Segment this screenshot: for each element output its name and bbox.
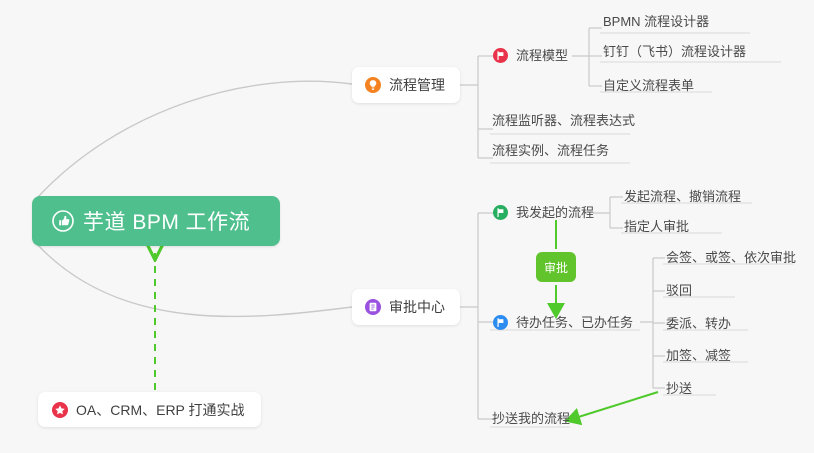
leaf-reject[interactable]: 驳回 [666, 284, 692, 297]
flag-icon [493, 315, 508, 330]
leaf-add-remove-sign[interactable]: 加签、减签 [666, 349, 731, 362]
root-label: 芋道 BPM 工作流 [83, 206, 250, 236]
leaf-label: 待办任务、已办任务 [516, 316, 633, 329]
leaf-label: 会签、或签、依次审批 [666, 250, 796, 265]
leaf-label: 驳回 [666, 283, 692, 298]
flag-icon [493, 48, 508, 63]
leaf-label: 加签、减签 [666, 348, 731, 363]
leaf-label: BPMN 流程设计器 [603, 14, 709, 29]
lightbulb-icon [365, 77, 381, 93]
leaf-countersign[interactable]: 会签、或签、依次审批 [666, 251, 796, 264]
thumbs-up-icon [52, 210, 74, 232]
leaf-my-initiated-flows[interactable]: 我发起的流程 [493, 205, 594, 220]
leaf-label: 钉钉（飞书）流程设计器 [603, 44, 746, 59]
leaf-label: 自定义流程表单 [603, 78, 694, 93]
leaf-label: 委派、转办 [666, 316, 731, 331]
approval-tag-label: 审批 [544, 259, 568, 276]
leaf-liucheng-moxing[interactable]: 流程模型 [493, 48, 568, 63]
branch-label: 审批中心 [389, 297, 445, 317]
leaf-cc[interactable]: 抄送 [666, 382, 692, 395]
leaf-dingtalk-designer[interactable]: 钉钉（飞书）流程设计器 [603, 45, 746, 58]
leaf-listener-expression[interactable]: 流程监听器、流程表达式 [492, 114, 635, 127]
leaf-cc-to-me[interactable]: 抄送我的流程 [492, 412, 570, 425]
leaf-label: 流程模型 [516, 49, 568, 62]
leaf-label: 流程实例、流程任务 [492, 143, 609, 158]
clipboard-icon [365, 299, 381, 315]
leaf-label: 我发起的流程 [516, 206, 594, 219]
branch-label: 流程管理 [389, 75, 445, 95]
leaf-bpmn-designer[interactable]: BPMN 流程设计器 [603, 15, 709, 28]
leaf-delegate-transfer[interactable]: 委派、转办 [666, 317, 731, 330]
root-node[interactable]: 芋道 BPM 工作流 [32, 196, 280, 246]
leaf-todo-done-tasks[interactable]: 待办任务、已办任务 [493, 315, 633, 330]
leaf-label: 指定人审批 [624, 219, 689, 234]
leaf-label: 发起流程、撤销流程 [624, 189, 741, 204]
leaf-assignee-approval[interactable]: 指定人审批 [624, 220, 689, 233]
flag-icon [493, 205, 508, 220]
branch-node-shenpi-zhongxin[interactable]: 审批中心 [352, 289, 460, 325]
leaf-label: 抄送我的流程 [492, 411, 570, 426]
leaf-start-cancel-flow[interactable]: 发起流程、撤销流程 [624, 190, 741, 203]
leaf-label: 抄送 [666, 381, 692, 396]
leaf-instance-task[interactable]: 流程实例、流程任务 [492, 144, 609, 157]
star-icon [52, 402, 68, 418]
leaf-custom-form[interactable]: 自定义流程表单 [603, 79, 694, 92]
leaf-label: 流程监听器、流程表达式 [492, 113, 635, 128]
integration-label: OA、CRM、ERP 打通实战 [76, 400, 245, 420]
approval-tag: 审批 [536, 252, 576, 282]
mindmap-canvas: 芋道 BPM 工作流 流程管理 流程模型 BPMN 流程设计器 钉钉（飞书）流程 [0, 0, 814, 453]
branch-node-liucheng-guanli[interactable]: 流程管理 [352, 67, 460, 103]
integration-node[interactable]: OA、CRM、ERP 打通实战 [38, 392, 261, 427]
